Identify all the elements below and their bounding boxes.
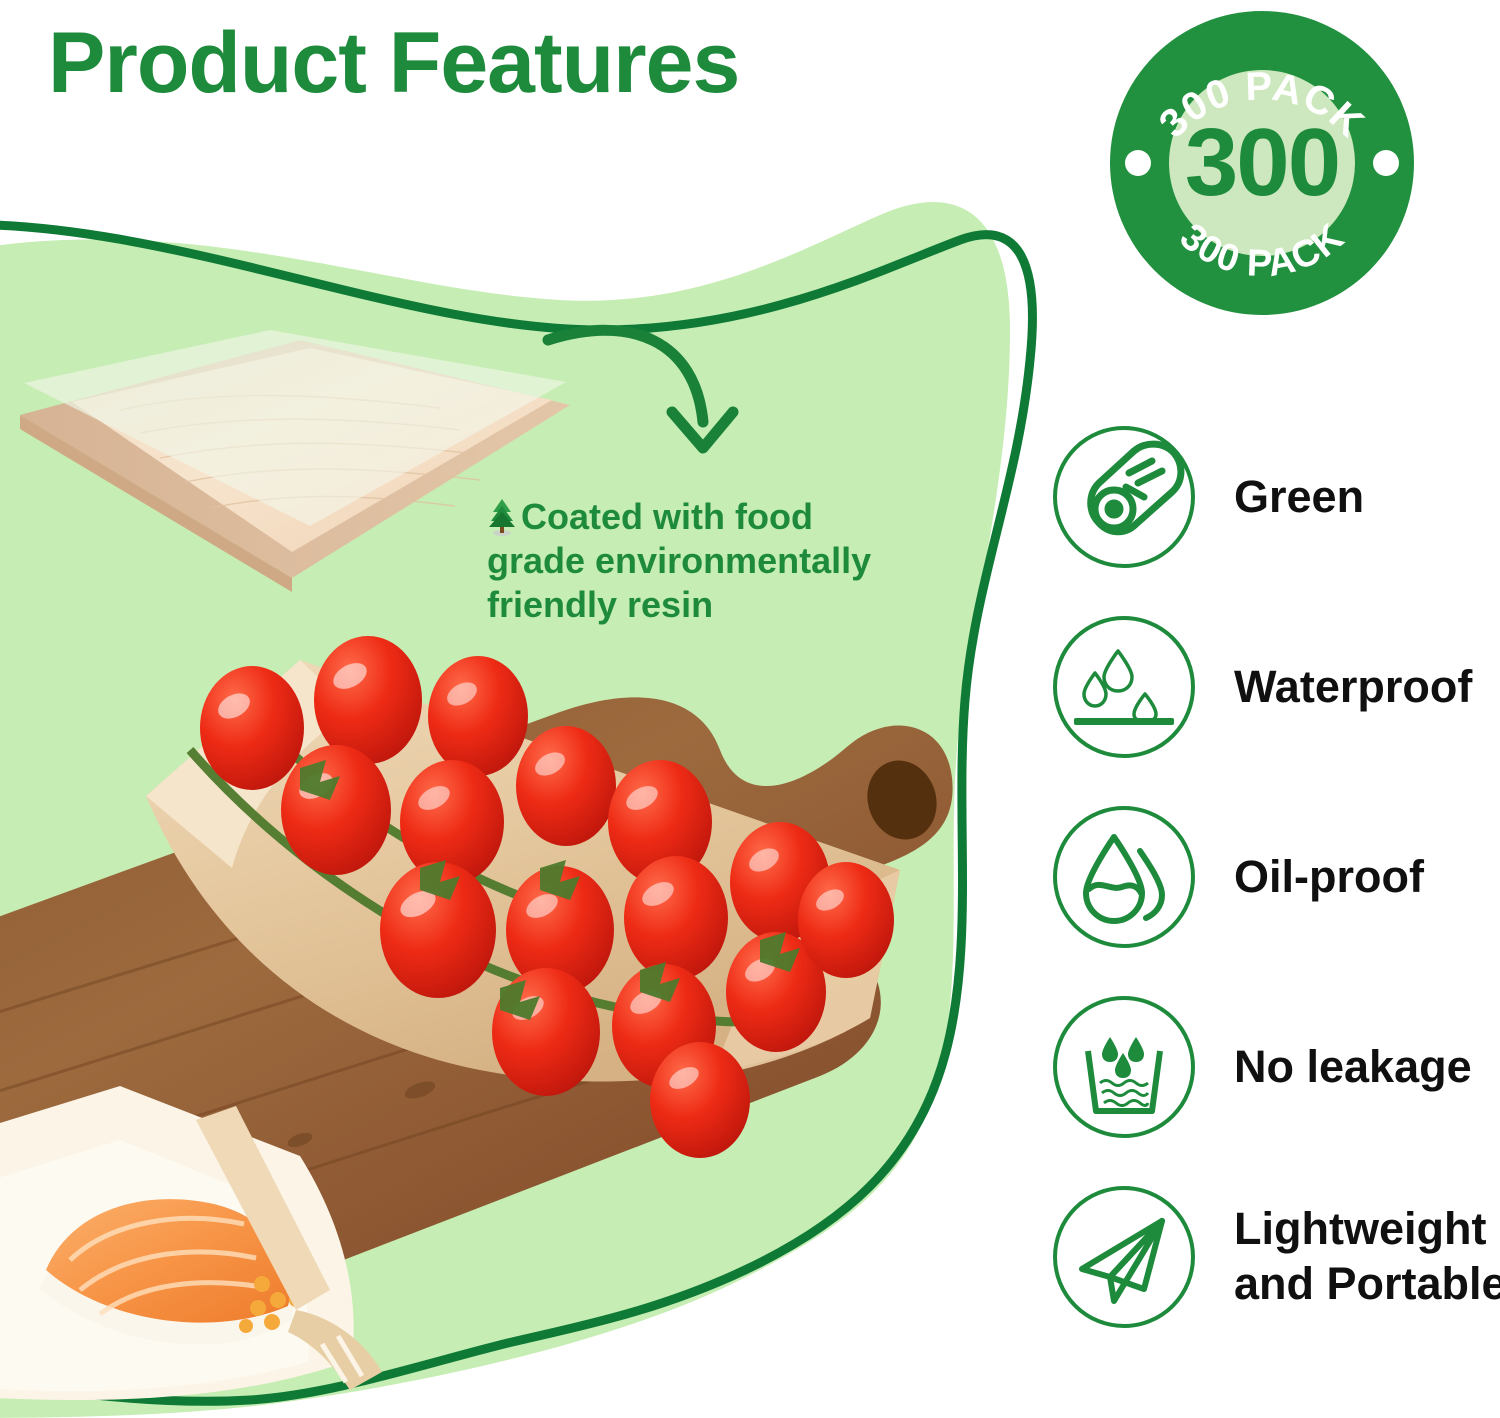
feature-label-line1: Oil-proof: [1234, 850, 1424, 905]
infographic-canvas: Product Features 300 PACK 300 PACK 300: [0, 0, 1500, 1418]
feature-row-noleakage[interactable]: No leakage: [1050, 995, 1500, 1185]
feature-label-waterproof: Waterproof: [1234, 615, 1472, 759]
oil-drop-icon: [1052, 805, 1196, 949]
feature-row-oilproof[interactable]: Oil-proof: [1050, 805, 1500, 995]
leak-droplets: [1102, 1037, 1144, 1078]
feature-label-line1: No leakage: [1234, 1040, 1472, 1095]
feature-row-lightweight[interactable]: Lightweight and Portable: [1050, 1185, 1500, 1375]
feature-label-oilproof: Oil-proof: [1234, 805, 1424, 949]
curved-arrow-icon: [520, 300, 770, 500]
feature-label-line2: and Portable: [1234, 1257, 1500, 1312]
cup-water-icon: [1052, 995, 1196, 1139]
feature-label-noleakage: No leakage: [1234, 995, 1472, 1139]
feature-label-line1: Waterproof: [1234, 660, 1472, 715]
evergreen-tree-icon: [487, 497, 517, 537]
feature-label-green: Green: [1234, 425, 1364, 569]
feature-row-waterproof[interactable]: Waterproof: [1050, 615, 1500, 805]
page-title: Product Features: [48, 18, 739, 108]
product-photo: [0, 600, 1000, 1400]
feature-row-green[interactable]: Green: [1050, 425, 1500, 615]
badge-center-number: 300: [1107, 8, 1417, 318]
pack-badge: 300 PACK 300 PACK 300: [1107, 8, 1417, 318]
wood-log-icon: [1052, 425, 1196, 569]
feature-label-lightweight: Lightweight and Portable: [1234, 1185, 1500, 1329]
feature-label-line1: Lightweight: [1234, 1202, 1500, 1257]
feature-list: Green Waterproof: [1050, 425, 1500, 1375]
water-drops-icon: [1052, 615, 1196, 759]
waterproof-surface-line: [1074, 718, 1174, 725]
paper-plane-icon: [1052, 1185, 1196, 1329]
feature-label-line1: Green: [1234, 470, 1364, 525]
